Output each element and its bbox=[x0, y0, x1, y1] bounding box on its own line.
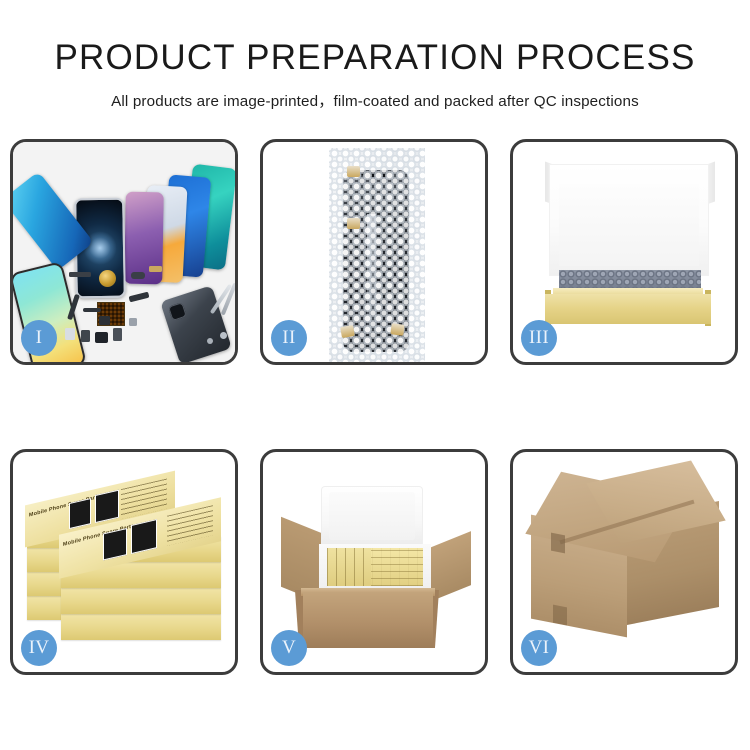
step-badge-2: II bbox=[271, 320, 307, 356]
step-badge-5: V bbox=[271, 630, 307, 666]
process-step-5: V bbox=[260, 449, 488, 675]
small-part-icon bbox=[65, 328, 75, 340]
step-badge-3: III bbox=[521, 320, 557, 356]
speaker-coil-part-icon bbox=[99, 270, 116, 287]
tape-tab-icon bbox=[390, 323, 404, 336]
process-step-6: VI bbox=[510, 449, 738, 675]
process-step-4: Mobile Phone Spare Parts Mobile Phone Sp… bbox=[10, 449, 238, 675]
screw-icon bbox=[220, 332, 227, 339]
process-step-grid: I II III bbox=[10, 139, 740, 675]
carton-front-face bbox=[303, 592, 433, 648]
box-front-yellow bbox=[545, 294, 711, 324]
packed-yellow-boxes bbox=[327, 548, 423, 586]
box-window-icon bbox=[103, 528, 127, 561]
tape-tab-icon bbox=[347, 166, 360, 177]
page-header: PRODUCT PREPARATION PROCESS All products… bbox=[0, 0, 750, 111]
step-badge-6: VI bbox=[521, 630, 557, 666]
flex-cable-icon bbox=[83, 308, 101, 312]
process-step-1: I bbox=[10, 139, 238, 365]
step-badge-4: IV bbox=[21, 630, 57, 666]
box-lid-inner-panel bbox=[559, 184, 699, 266]
box-window-icon bbox=[69, 498, 91, 529]
carton-handle-tab bbox=[551, 533, 565, 554]
box-window-icon bbox=[131, 519, 157, 554]
box-window-icon bbox=[95, 490, 119, 524]
small-part-icon bbox=[149, 266, 162, 272]
stacked-box bbox=[61, 614, 221, 640]
process-step-3: III bbox=[510, 139, 738, 365]
small-part-icon bbox=[95, 332, 108, 343]
foam-lid-inner bbox=[329, 492, 415, 540]
screw-icon bbox=[207, 338, 213, 344]
small-part-icon bbox=[99, 316, 110, 325]
stacked-box bbox=[61, 588, 221, 614]
small-part-icon bbox=[131, 272, 145, 279]
box-spec-lines bbox=[167, 505, 213, 546]
page-title: PRODUCT PREPARATION PROCESS bbox=[0, 0, 750, 77]
page-subtitle: All products are image-printed，film-coat… bbox=[0, 77, 750, 111]
step-badge-1: I bbox=[21, 320, 57, 356]
carton-handle-tab bbox=[553, 605, 567, 626]
tape-tab-icon bbox=[347, 218, 360, 229]
box-stack: Mobile Phone Spare Parts Mobile Phone Sp… bbox=[23, 464, 231, 664]
small-part-icon bbox=[113, 328, 122, 341]
tape-tab-icon bbox=[340, 325, 355, 338]
small-part-icon bbox=[81, 330, 90, 342]
process-step-2: II bbox=[260, 139, 488, 365]
small-part-icon bbox=[129, 318, 137, 326]
small-part-icon bbox=[69, 272, 91, 277]
